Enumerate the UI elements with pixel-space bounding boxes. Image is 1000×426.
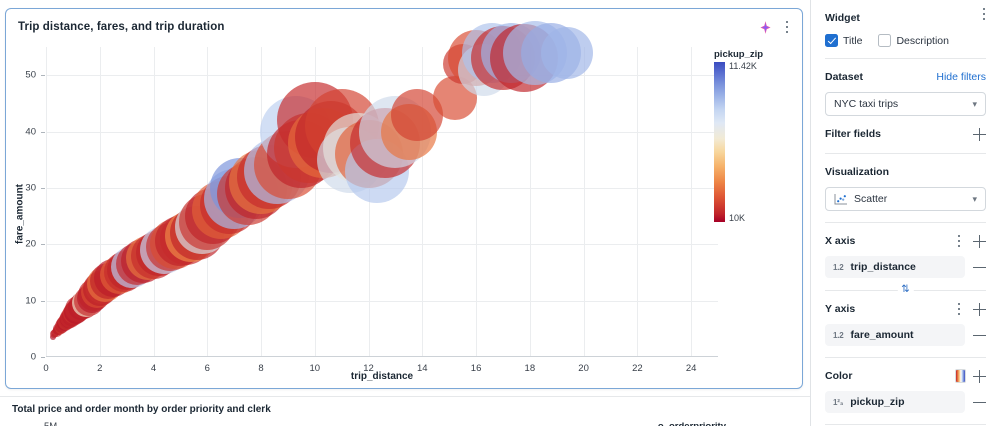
y-tick-mark: [41, 188, 45, 189]
color-gradient-swatch-icon[interactable]: [955, 369, 966, 383]
x-gridline: [154, 47, 155, 357]
x-tick-label: 22: [632, 363, 643, 374]
y-axis-field-pill[interactable]: 1.2 fare_amount: [825, 324, 965, 346]
widget-section-heading: Widget: [825, 12, 860, 24]
bottom-widget-title: Total price and order month by order pri…: [12, 404, 271, 415]
section-dataset: Dataset Hide filters NYC taxi trips ▾: [825, 59, 986, 116]
legend-title: pickup_zip: [714, 49, 788, 60]
scatter-plot[interactable]: 02468101214161820222401020304050 trip_di…: [6, 39, 803, 389]
x-gridline: [584, 47, 585, 357]
section-x-axis: X axis 1.2 trip_distance ⇅: [825, 223, 986, 297]
remove-x-axis-field-icon[interactable]: [973, 261, 986, 274]
x-tick-label: 14: [417, 363, 428, 374]
x-tick-label: 2: [97, 363, 102, 374]
x-tick-label: 20: [578, 363, 589, 374]
description-checkbox-item[interactable]: Description: [878, 34, 949, 47]
section-widget: Widget Title Description: [825, 0, 986, 59]
legend-max-label: 11.42K: [729, 61, 757, 71]
x-tick-label: 8: [258, 363, 263, 374]
y-axis-heading-row: Y axis: [825, 301, 986, 317]
widget-menu-icon[interactable]: [780, 19, 794, 35]
y-tick-mark: [41, 132, 45, 133]
y-tick-mark: [41, 244, 45, 245]
section-filter-fields: Filter fields: [825, 116, 986, 154]
color-heading: Color: [825, 370, 852, 382]
y-gridline: [46, 301, 718, 302]
y-tick-label: 40: [25, 126, 36, 137]
color-actions: [955, 369, 986, 383]
config-sidebar: Widget Title Description Dataset Hide fi…: [810, 0, 1000, 426]
x-gridline: [691, 47, 692, 357]
widget-title: Trip distance, fares, and trip duration: [18, 21, 224, 33]
y-tick-mark: [41, 357, 45, 358]
x-tick-label: 4: [151, 363, 156, 374]
bottom-widget-card[interactable]: Total price and order month by order pri…: [0, 396, 810, 426]
legend-min-label: 10K: [729, 213, 745, 223]
x-tick-label: 16: [471, 363, 482, 374]
y-tick-label: 30: [25, 182, 36, 193]
visualization-select[interactable]: Scatter ▾: [825, 187, 986, 211]
add-y-axis-field-icon[interactable]: [973, 303, 986, 316]
x-axis-actions: [952, 233, 986, 249]
section-color: Color 1²₃ pickup_zip: [825, 358, 986, 425]
y-axis-actions: [952, 301, 986, 317]
x-axis-heading: X axis: [825, 235, 855, 247]
dashboard-canvas: Trip distance, fares, and trip duration …: [0, 0, 810, 426]
hide-filters-link[interactable]: Hide filters: [936, 71, 986, 83]
visualization-heading-row: Visualization: [825, 164, 986, 180]
x-tick-label: 0: [43, 363, 48, 374]
x-axis-field-row: 1.2 trip_distance: [825, 256, 986, 278]
y-axis-field-type-icon: 1.2: [833, 331, 844, 340]
scatter-bubble[interactable]: [541, 27, 593, 79]
color-legend: pickup_zip 11.42K 10K: [714, 49, 788, 222]
widget-checkbox-row: Title Description: [825, 34, 986, 47]
title-checkbox-label: Title: [843, 35, 862, 47]
title-checkbox-item[interactable]: Title: [825, 34, 862, 47]
y-axis-title: fare_amount: [15, 184, 26, 244]
x-axis-field-name: trip_distance: [851, 261, 916, 273]
y-gridline: [46, 75, 718, 76]
colorbar-gradient: [714, 62, 725, 222]
y-tick-label: 50: [25, 70, 36, 81]
y-tick-label: 0: [31, 352, 36, 363]
y-axis-heading: Y axis: [825, 303, 855, 315]
sidebar-menu-icon[interactable]: [977, 6, 991, 22]
add-color-field-icon[interactable]: [973, 370, 986, 383]
y-tick-label: 10: [25, 295, 36, 306]
x-axis-heading-row: X axis: [825, 233, 986, 249]
widget-toolbar: [758, 19, 794, 35]
description-checkbox-label: Description: [896, 35, 949, 47]
x-tick-label: 18: [525, 363, 536, 374]
legend-bar-wrap: 11.42K 10K: [714, 62, 788, 222]
add-x-axis-field-icon[interactable]: [973, 235, 986, 248]
app-root: Trip distance, fares, and trip duration …: [0, 0, 1000, 426]
remove-y-axis-field-icon[interactable]: [973, 329, 986, 342]
x-tick-label: 10: [310, 363, 321, 374]
x-gridline: [530, 47, 531, 357]
swap-axes-row: ⇅: [825, 283, 986, 297]
color-field-type-icon: 1²₃: [833, 398, 843, 407]
filter-fields-heading: Filter fields: [825, 128, 881, 140]
x-tick-label: 6: [205, 363, 210, 374]
description-checkbox[interactable]: [878, 34, 891, 47]
y-tick-label: 20: [25, 239, 36, 250]
x-axis-line: [46, 356, 718, 357]
x-axis-field-pill[interactable]: 1.2 trip_distance: [825, 256, 965, 278]
widget-section-heading-row: Widget: [825, 10, 986, 26]
y-axis-field-row: 1.2 fare_amount: [825, 324, 986, 346]
plot-area[interactable]: 02468101214161820222401020304050: [46, 47, 718, 357]
color-field-row: 1²₃ pickup_zip: [825, 391, 986, 413]
visualization-select-value: Scatter: [854, 193, 887, 205]
chevron-down-icon: ▾: [972, 194, 977, 205]
section-y-axis: Y axis 1.2 fare_amount: [825, 297, 986, 358]
sparkle-icon[interactable]: [758, 20, 773, 35]
chevron-down-icon: ▾: [972, 99, 977, 110]
y-axis-field-name: fare_amount: [851, 329, 914, 341]
dataset-select[interactable]: NYC taxi trips ▾: [825, 92, 986, 116]
swap-axes-icon[interactable]: ⇅: [897, 283, 913, 297]
bottom-widget-legend-label: o_orderpriority: [658, 421, 726, 426]
x-axis-title: trip_distance: [351, 371, 413, 382]
x-tick-label: 24: [686, 363, 697, 374]
y-tick-mark: [41, 301, 45, 302]
scatter-widget-card[interactable]: Trip distance, fares, and trip duration …: [5, 8, 803, 389]
color-field-pill[interactable]: 1²₃ pickup_zip: [825, 391, 965, 413]
scatter-chart-icon: [834, 193, 848, 206]
title-checkbox[interactable]: [825, 34, 838, 47]
dataset-heading: Dataset: [825, 71, 863, 83]
color-heading-row: Color: [825, 368, 986, 384]
dataset-heading-row: Dataset Hide filters: [825, 69, 986, 85]
x-gridline: [46, 47, 47, 357]
x-axis-field-type-icon: 1.2: [833, 263, 844, 272]
add-filter-field-icon[interactable]: [973, 128, 986, 141]
filter-fields-heading-row: Filter fields: [825, 126, 986, 142]
remove-color-field-icon[interactable]: [973, 396, 986, 409]
section-visualization: Visualization Scatter ▾: [825, 154, 986, 223]
color-field-name: pickup_zip: [850, 396, 904, 408]
x-axis-menu-icon[interactable]: [952, 233, 966, 249]
y-axis-menu-icon[interactable]: [952, 301, 966, 317]
dataset-select-value: NYC taxi trips: [834, 98, 898, 110]
visualization-heading: Visualization: [825, 166, 889, 178]
x-gridline: [637, 47, 638, 357]
y-tick-mark: [41, 75, 45, 76]
bottom-widget-y-label: 5M: [44, 421, 57, 426]
